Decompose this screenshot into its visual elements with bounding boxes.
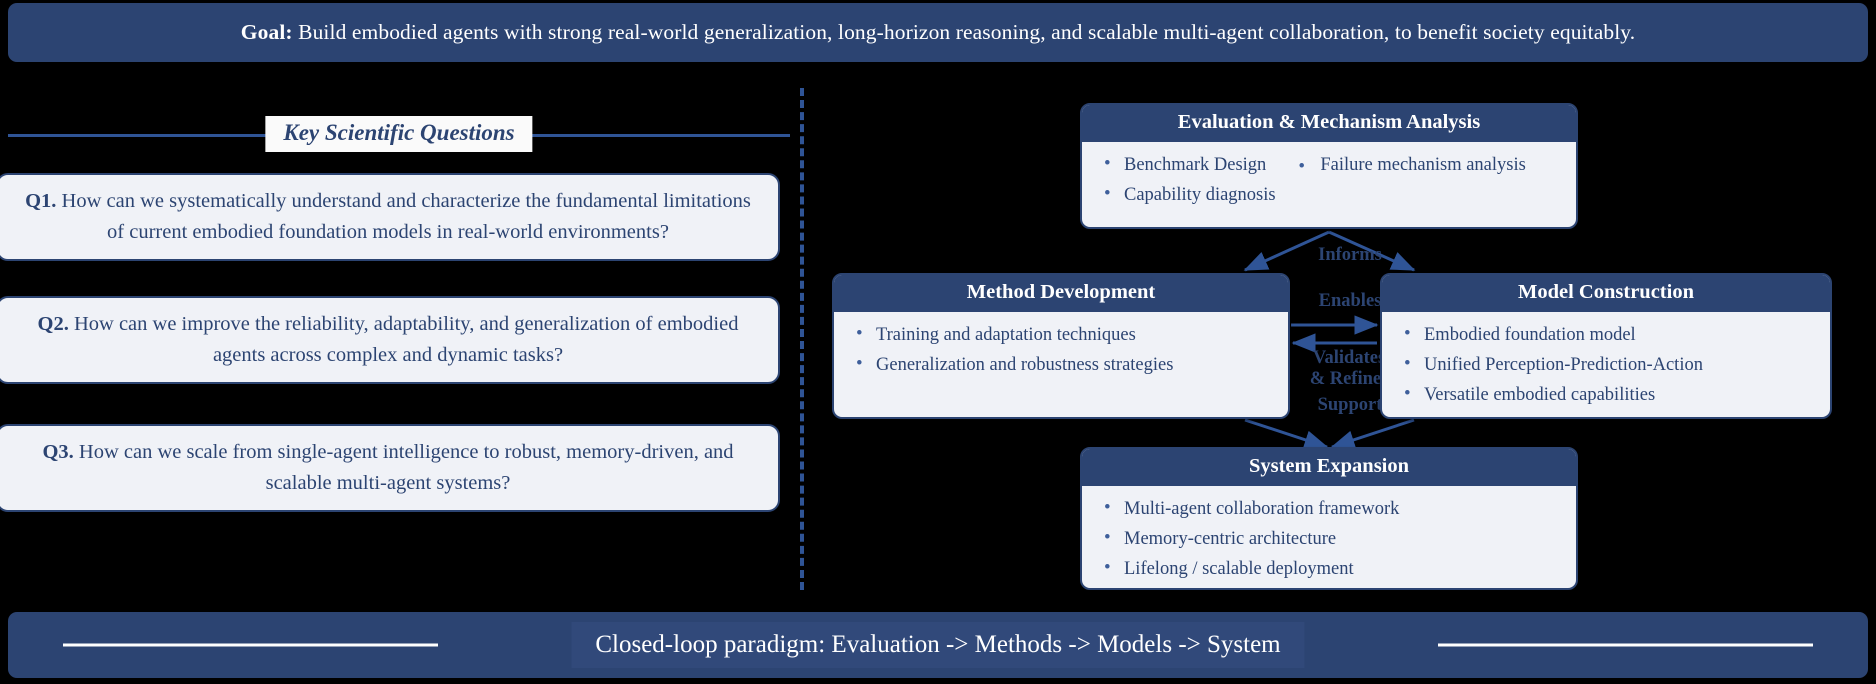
goal-statement: Build embodied agents with strong real-w… — [293, 20, 1636, 44]
question-tag: Q3. — [42, 441, 73, 463]
question-card-q3: Q3. How can we scale from single-agent i… — [0, 424, 780, 512]
bullet-text: Benchmark Design — [1124, 155, 1266, 175]
box-evaluation-mechanism-analysis: Evaluation & Mechanism Analysis Benchmar… — [1080, 103, 1578, 229]
goal-text: Goal: Build embodied agents with strong … — [241, 20, 1635, 45]
question-body: How can we improve the reliability, adap… — [69, 313, 739, 366]
list-item: Memory-centric architecture — [1098, 526, 1560, 552]
box-model-construction: Model Construction Embodied foundation m… — [1380, 273, 1832, 419]
arrow-support — [1245, 420, 1414, 447]
vertical-dashed-divider — [800, 88, 804, 590]
arrow-label-informs: Informs — [1290, 245, 1410, 266]
question-tag: Q1. — [25, 190, 56, 212]
box-system-expansion: System Expansion Multi-agent collaborati… — [1080, 447, 1578, 590]
banner-rule-right — [1438, 644, 1813, 647]
question-body: How can we systematically understand and… — [56, 190, 750, 243]
bullet-list: Embodied foundation model Unified Percep… — [1398, 322, 1814, 409]
list-item: Multi-agent collaboration framework — [1098, 496, 1560, 522]
banner-text-box: Closed-loop paradigm: Evaluation -> Meth… — [571, 622, 1304, 668]
list-item: Embodied foundation model — [1398, 322, 1814, 348]
box-body: Training and adaptation techniques Gener… — [834, 312, 1288, 393]
list-item: Unified Perception-Prediction-Action — [1398, 352, 1814, 378]
question-card-q2: Q2. How can we improve the reliability, … — [0, 296, 780, 384]
list-item: Lifelong / scalable deployment — [1098, 556, 1560, 582]
box-title: Method Development — [834, 275, 1288, 312]
question-card-q1: Q1. How can we systematically understand… — [0, 173, 780, 261]
closed-loop-text: Closed-loop paradigm: Evaluation -> Meth… — [595, 631, 1280, 659]
list-item: Capability diagnosis — [1098, 182, 1560, 208]
list-item: Training and adaptation techniques — [850, 322, 1272, 348]
question-card-text: Q2. How can we improve the reliability, … — [24, 309, 752, 371]
box-body: Embodied foundation model Unified Percep… — [1382, 312, 1830, 419]
box-body: Benchmark DesignFailure mechanism analys… — [1082, 142, 1576, 223]
bullet-list: Multi-agent collaboration framework Memo… — [1098, 496, 1560, 583]
key-questions-header: Key Scientific Questions — [8, 116, 790, 154]
question-tag: Q2. — [38, 313, 69, 335]
list-item: Generalization and robustness strategies — [850, 352, 1272, 378]
diagram-canvas: Goal: Build embodied agents with strong … — [0, 0, 1876, 684]
box-title: Model Construction — [1382, 275, 1830, 312]
goal-banner: Goal: Build embodied agents with strong … — [8, 3, 1868, 62]
box-title: System Expansion — [1082, 449, 1576, 486]
banner-rule-left — [63, 644, 438, 647]
bullet-list: Benchmark DesignFailure mechanism analys… — [1098, 152, 1560, 209]
list-item: Benchmark DesignFailure mechanism analys… — [1098, 152, 1560, 178]
box-title: Evaluation & Mechanism Analysis — [1082, 105, 1576, 142]
box-method-development: Method Development Training and adaptati… — [832, 273, 1290, 419]
closed-loop-banner: Closed-loop paradigm: Evaluation -> Meth… — [8, 612, 1868, 678]
bullet-text: Failure mechanism analysis — [1298, 155, 1526, 175]
question-card-text: Q3. How can we scale from single-agent i… — [24, 437, 752, 499]
question-body: How can we scale from single-agent intel… — [74, 441, 734, 494]
goal-label: Goal: — [241, 20, 293, 44]
list-item: Versatile embodied capabilities — [1398, 382, 1814, 408]
box-body: Multi-agent collaboration framework Memo… — [1082, 486, 1576, 590]
bullet-list: Training and adaptation techniques Gener… — [850, 322, 1272, 379]
key-questions-title-box: Key Scientific Questions — [265, 116, 532, 152]
key-questions-title: Key Scientific Questions — [283, 120, 514, 146]
question-card-text: Q1. How can we systematically understand… — [24, 186, 752, 248]
